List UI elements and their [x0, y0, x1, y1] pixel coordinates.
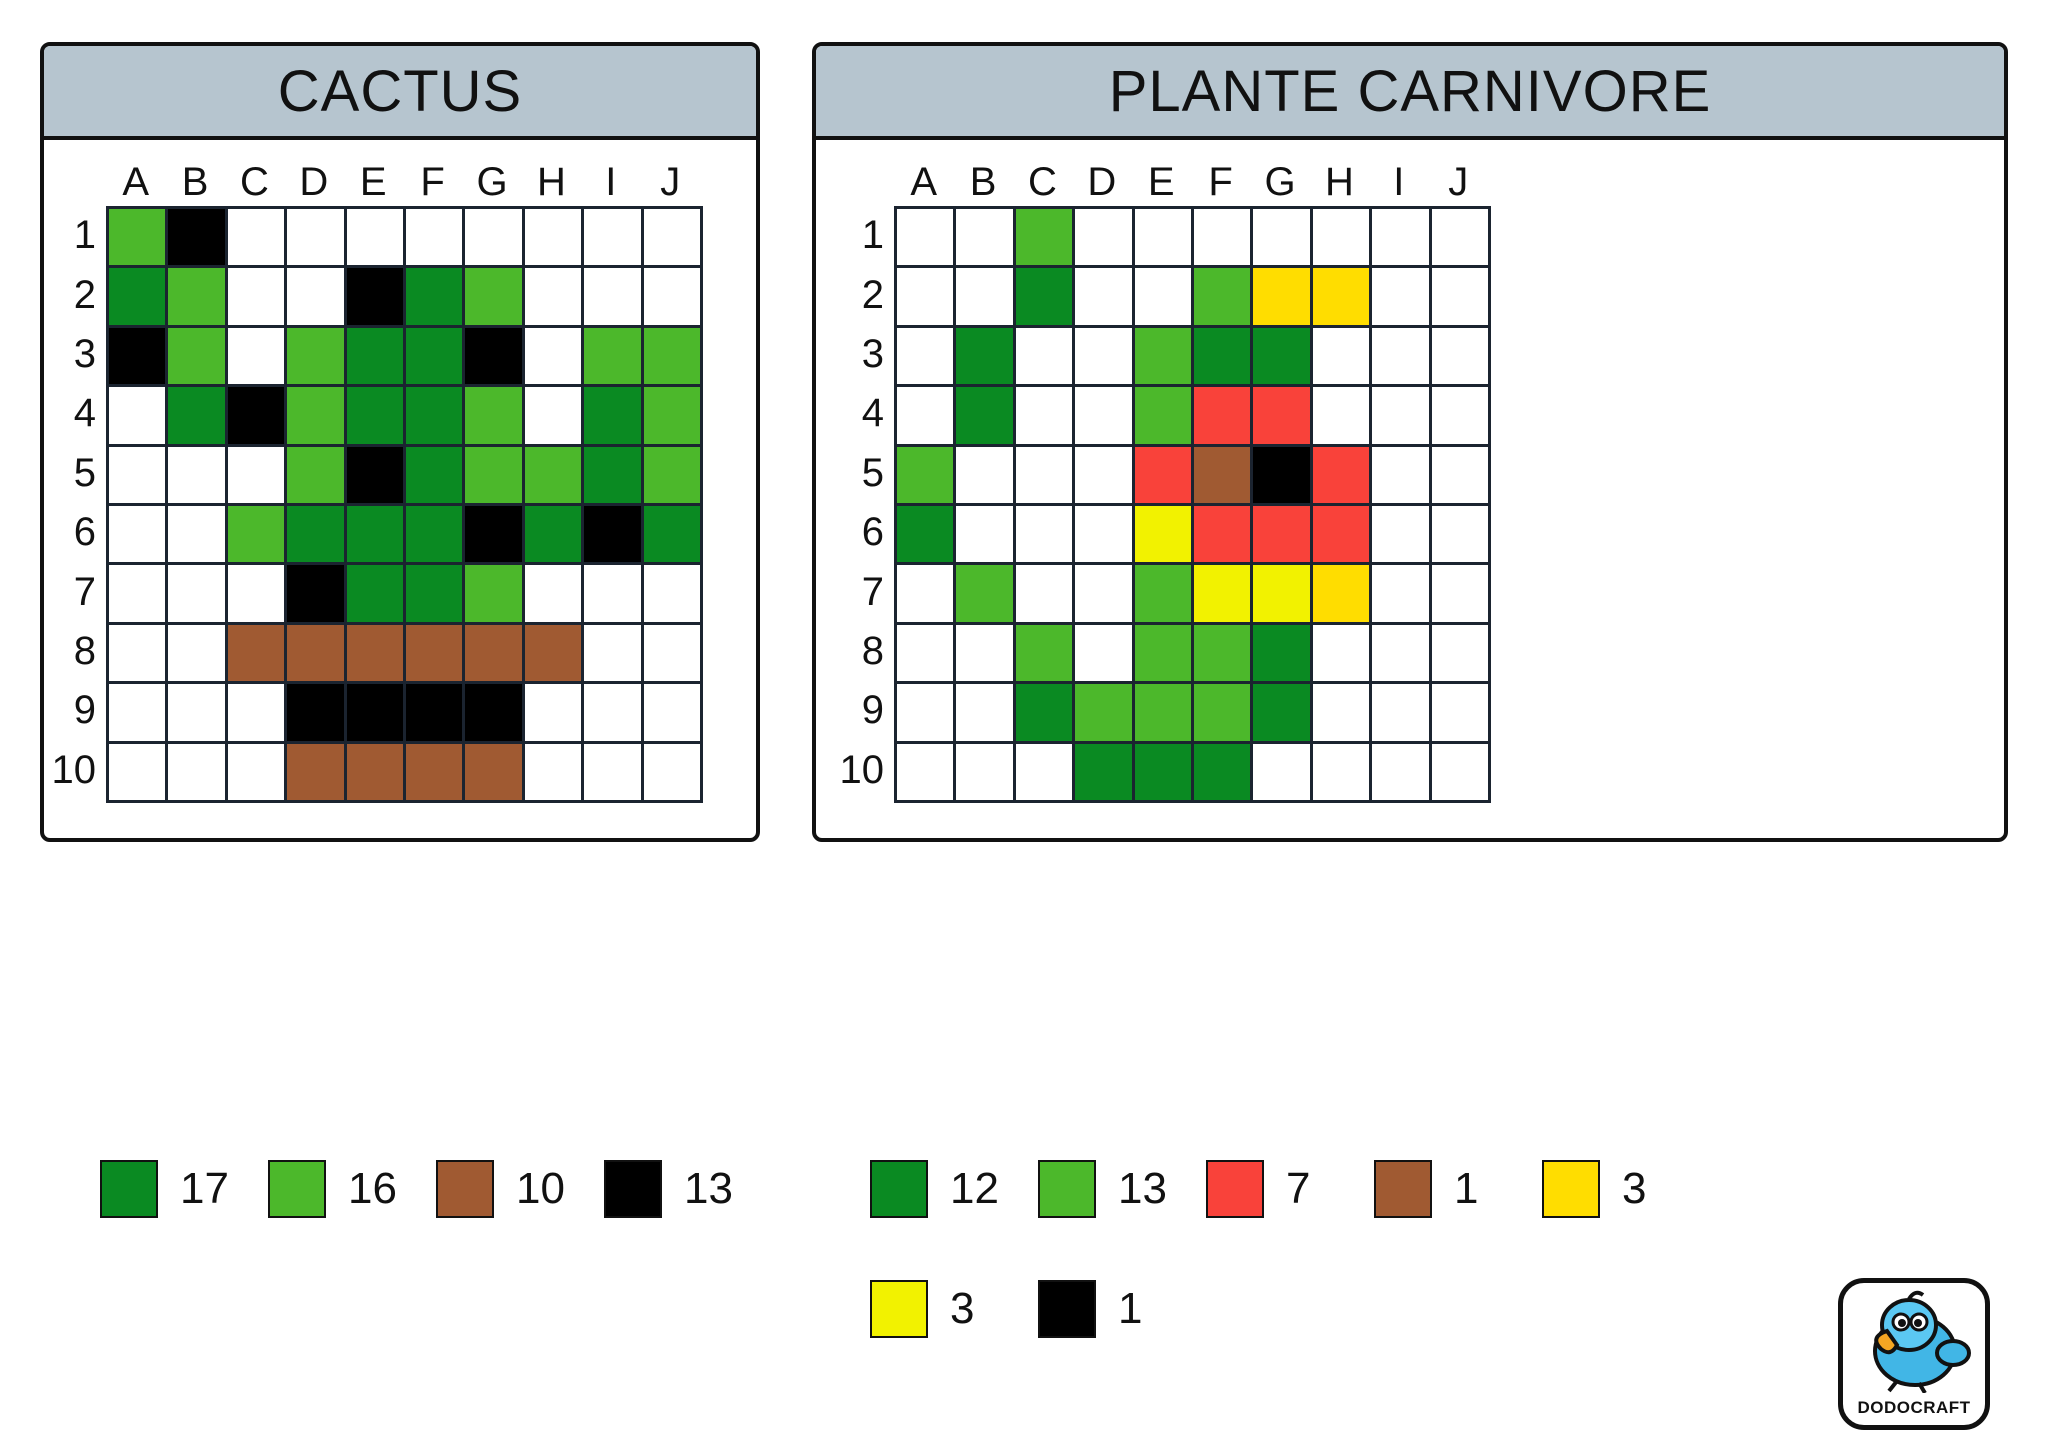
cactus-cell-G6[interactable]: [465, 506, 524, 565]
plante-cell-B2[interactable]: [956, 268, 1015, 327]
plante-cell-D6[interactable]: [1075, 506, 1134, 565]
cactus-cell-E6[interactable]: [347, 506, 406, 565]
cactus-cell-E2[interactable]: [347, 268, 406, 327]
plante-col-header-B: B: [953, 158, 1012, 206]
plante-cell-D10[interactable]: [1075, 744, 1134, 803]
cactus-cell-F2[interactable]: [406, 268, 465, 327]
plante-legend-row-1: 1213713: [870, 1160, 1710, 1218]
cactus-cell-C7[interactable]: [228, 565, 287, 624]
cactus-cell-A6[interactable]: [109, 506, 168, 565]
cactus-cell-J3[interactable]: [644, 328, 703, 387]
plante-cell-I10[interactable]: [1372, 744, 1431, 803]
cactus-cell-H7[interactable]: [525, 565, 584, 624]
cactus-cell-D3[interactable]: [287, 328, 346, 387]
plante-cell-B8[interactable]: [956, 625, 1015, 684]
plante-cell-B6[interactable]: [956, 506, 1015, 565]
plante-cell-D2[interactable]: [1075, 268, 1134, 327]
cactus-cell-B5[interactable]: [168, 447, 227, 506]
cactus-cell-G2[interactable]: [465, 268, 524, 327]
cactus-cell-J9[interactable]: [644, 684, 703, 743]
cactus-legend-item: 13: [604, 1160, 746, 1218]
plante-cell-E5[interactable]: [1135, 447, 1194, 506]
cactus-cell-I7[interactable]: [584, 565, 643, 624]
plante-cell-D1[interactable]: [1075, 209, 1134, 268]
plante-legend-count: 3: [950, 1284, 1012, 1334]
plante-cell-J1[interactable]: [1432, 209, 1491, 268]
cactus-col-header-C: C: [225, 158, 284, 206]
plante-cell-A2[interactable]: [897, 268, 956, 327]
cactus-col-header-D: D: [284, 158, 343, 206]
cactus-cell-B6[interactable]: [168, 506, 227, 565]
plante-cell-D5[interactable]: [1075, 447, 1134, 506]
plante-cell-C10[interactable]: [1016, 744, 1075, 803]
cactus-cell-A4[interactable]: [109, 387, 168, 446]
cactus-cell-I9[interactable]: [584, 684, 643, 743]
plante-cell-A9[interactable]: [897, 684, 956, 743]
cactus-legend-count: 13: [684, 1164, 746, 1214]
plante-legend-swatch-light-green: [1038, 1160, 1096, 1218]
cactus-cell-C6[interactable]: [228, 506, 287, 565]
plante-cell-F5[interactable]: [1194, 447, 1253, 506]
plante-row-header-9: 9: [854, 681, 894, 740]
plante-cell-F2[interactable]: [1194, 268, 1253, 327]
plante-cell-I6[interactable]: [1372, 506, 1431, 565]
dodo-bird-icon: [1857, 1289, 1981, 1393]
plante-cell-H6[interactable]: [1313, 506, 1372, 565]
plante-cell-C6[interactable]: [1016, 506, 1075, 565]
plante-cell-G1[interactable]: [1253, 209, 1312, 268]
panel-cactus-title: CACTUS: [44, 46, 756, 140]
cactus-cell-A8[interactable]: [109, 625, 168, 684]
plante-row-header-2: 2: [854, 265, 894, 324]
cactus-row-header-3: 3: [66, 325, 106, 384]
plante-cell-G3[interactable]: [1253, 328, 1312, 387]
plante-legend-item: 3: [870, 1280, 1012, 1338]
cactus-cell-A3[interactable]: [109, 328, 168, 387]
plante-cell-J4[interactable]: [1432, 387, 1491, 446]
plante-legend-item: 1: [1038, 1280, 1180, 1338]
plante-cell-F4[interactable]: [1194, 387, 1253, 446]
plante-legend-swatch-dark-green: [870, 1160, 928, 1218]
cactus-legend-item: 17: [100, 1160, 242, 1218]
cactus-cell-J7[interactable]: [644, 565, 703, 624]
plante-row-header-6: 6: [854, 503, 894, 562]
cactus-cell-C2[interactable]: [228, 268, 287, 327]
plante-col-header-G: G: [1250, 158, 1309, 206]
plante-cell-D8[interactable]: [1075, 625, 1134, 684]
cactus-cell-C10[interactable]: [228, 744, 287, 803]
plante-col-header-E: E: [1132, 158, 1191, 206]
cactus-cell-I10[interactable]: [584, 744, 643, 803]
plante-cell-B10[interactable]: [956, 744, 1015, 803]
plante-cell-E9[interactable]: [1135, 684, 1194, 743]
plante-col-header-A: A: [894, 158, 953, 206]
cactus-cell-F7[interactable]: [406, 565, 465, 624]
plante-grid[interactable]: [894, 206, 1491, 803]
cactus-cell-E3[interactable]: [347, 328, 406, 387]
plante-col-header-C: C: [1013, 158, 1072, 206]
cactus-col-header-E: E: [344, 158, 403, 206]
cactus-cell-I2[interactable]: [584, 268, 643, 327]
plante-cell-F10[interactable]: [1194, 744, 1253, 803]
cactus-grid-wrap: ABCDEFGHIJ 12345678910: [66, 140, 756, 803]
cactus-cell-E1[interactable]: [347, 209, 406, 268]
plante-legend-count: 7: [1286, 1164, 1348, 1214]
cactus-cell-I3[interactable]: [584, 328, 643, 387]
cactus-cell-I6[interactable]: [584, 506, 643, 565]
cactus-legend-swatch-dark-green: [100, 1160, 158, 1218]
cactus-cell-H8[interactable]: [525, 625, 584, 684]
plante-cell-F3[interactable]: [1194, 328, 1253, 387]
plante-col-header-H: H: [1310, 158, 1369, 206]
plante-legend-count: 13: [1118, 1164, 1180, 1214]
plante-cell-A5[interactable]: [897, 447, 956, 506]
plante-cell-B4[interactable]: [956, 387, 1015, 446]
plante-legend-item: 1: [1374, 1160, 1516, 1218]
plante-cell-A6[interactable]: [897, 506, 956, 565]
plante-cell-I5[interactable]: [1372, 447, 1431, 506]
plante-row-header-5: 5: [854, 444, 894, 503]
cactus-cell-D2[interactable]: [287, 268, 346, 327]
plante-col-header-F: F: [1191, 158, 1250, 206]
cactus-cell-A2[interactable]: [109, 268, 168, 327]
plante-cell-I2[interactable]: [1372, 268, 1431, 327]
cactus-cell-F10[interactable]: [406, 744, 465, 803]
plante-cell-D7[interactable]: [1075, 565, 1134, 624]
cactus-cell-A10[interactable]: [109, 744, 168, 803]
plante-cell-A8[interactable]: [897, 625, 956, 684]
plante-cell-H10[interactable]: [1313, 744, 1372, 803]
cactus-cell-H9[interactable]: [525, 684, 584, 743]
cactus-legend: 17161013: [100, 1160, 772, 1218]
plante-legend-swatch-brown: [1374, 1160, 1432, 1218]
plante-legend-count: 1: [1118, 1284, 1180, 1334]
plante-cell-H8[interactable]: [1313, 625, 1372, 684]
cactus-legend-count: 17: [180, 1164, 242, 1214]
cactus-cell-B3[interactable]: [168, 328, 227, 387]
plante-cell-A3[interactable]: [897, 328, 956, 387]
plante-cell-F8[interactable]: [1194, 625, 1253, 684]
cactus-col-header-G: G: [462, 158, 521, 206]
cactus-cell-A5[interactable]: [109, 447, 168, 506]
plante-legend-count: 12: [950, 1164, 1012, 1214]
plante-row-header-3: 3: [854, 325, 894, 384]
cactus-cell-F1[interactable]: [406, 209, 465, 268]
cactus-cell-J2[interactable]: [644, 268, 703, 327]
plante-cell-D3[interactable]: [1075, 328, 1134, 387]
cactus-cell-C4[interactable]: [228, 387, 287, 446]
plante-cell-I8[interactable]: [1372, 625, 1431, 684]
plante-cell-D9[interactable]: [1075, 684, 1134, 743]
plante-cell-J7[interactable]: [1432, 565, 1491, 624]
worksheet-page: CACTUS ABCDEFGHIJ 12345678910 PLANTE CAR…: [0, 0, 2048, 1448]
plante-col-header-J: J: [1429, 158, 1488, 206]
plante-cell-B9[interactable]: [956, 684, 1015, 743]
cactus-cell-A7[interactable]: [109, 565, 168, 624]
plante-cell-F6[interactable]: [1194, 506, 1253, 565]
plante-cell-I9[interactable]: [1372, 684, 1431, 743]
plante-cell-C1[interactable]: [1016, 209, 1075, 268]
plante-legend-swatch-bright-yellow: [870, 1280, 928, 1338]
plante-cell-B3[interactable]: [956, 328, 1015, 387]
cactus-row-header-10: 10: [66, 741, 106, 800]
plante-cell-J9[interactable]: [1432, 684, 1491, 743]
cactus-cell-I8[interactable]: [584, 625, 643, 684]
plante-legend-count: 1: [1454, 1164, 1516, 1214]
cactus-cell-E10[interactable]: [347, 744, 406, 803]
cactus-row-header-4: 4: [66, 384, 106, 443]
plante-legend-row-2: 31: [870, 1280, 1206, 1338]
plante-cell-H4[interactable]: [1313, 387, 1372, 446]
cactus-grid-body: 12345678910: [66, 206, 756, 803]
cactus-cell-G7[interactable]: [465, 565, 524, 624]
plante-cell-E3[interactable]: [1135, 328, 1194, 387]
cactus-cell-F4[interactable]: [406, 387, 465, 446]
plante-cell-H2[interactable]: [1313, 268, 1372, 327]
cactus-cell-C3[interactable]: [228, 328, 287, 387]
plante-row-headers: 12345678910: [854, 206, 894, 803]
cactus-column-headers: ABCDEFGHIJ: [106, 158, 756, 206]
plante-row-header-4: 4: [854, 384, 894, 443]
panel-cactus: CACTUS ABCDEFGHIJ 12345678910: [40, 42, 760, 842]
plante-cell-J6[interactable]: [1432, 506, 1491, 565]
cactus-legend-count: 10: [516, 1164, 578, 1214]
plante-cell-G2[interactable]: [1253, 268, 1312, 327]
cactus-cell-D6[interactable]: [287, 506, 346, 565]
plante-cell-F1[interactable]: [1194, 209, 1253, 268]
plante-row-header-8: 8: [854, 622, 894, 681]
plante-legend-item: 3: [1542, 1160, 1684, 1218]
cactus-cell-D9[interactable]: [287, 684, 346, 743]
plante-col-header-I: I: [1369, 158, 1428, 206]
cactus-row-header-2: 2: [66, 265, 106, 324]
cactus-col-header-B: B: [165, 158, 224, 206]
cactus-cell-E7[interactable]: [347, 565, 406, 624]
cactus-row-header-1: 1: [66, 206, 106, 265]
plante-cell-G7[interactable]: [1253, 565, 1312, 624]
cactus-legend-item: 10: [436, 1160, 578, 1218]
panel-plante-carnivore-title: PLANTE CARNIVORE: [816, 46, 2004, 140]
cactus-col-header-A: A: [106, 158, 165, 206]
plante-cell-J3[interactable]: [1432, 328, 1491, 387]
plante-row-header-1: 1: [854, 206, 894, 265]
plante-row-header-10: 10: [854, 741, 894, 800]
plante-cell-I4[interactable]: [1372, 387, 1431, 446]
plante-column-headers: ABCDEFGHIJ: [894, 158, 2004, 206]
plante-cell-C8[interactable]: [1016, 625, 1075, 684]
cactus-cell-I5[interactable]: [584, 447, 643, 506]
plante-cell-B5[interactable]: [956, 447, 1015, 506]
cactus-cell-G9[interactable]: [465, 684, 524, 743]
plante-cell-J5[interactable]: [1432, 447, 1491, 506]
plante-cell-A1[interactable]: [897, 209, 956, 268]
plante-cell-B1[interactable]: [956, 209, 1015, 268]
plante-cell-G4[interactable]: [1253, 387, 1312, 446]
cactus-cell-G10[interactable]: [465, 744, 524, 803]
cactus-cell-B2[interactable]: [168, 268, 227, 327]
plante-cell-H1[interactable]: [1313, 209, 1372, 268]
cactus-cell-D5[interactable]: [287, 447, 346, 506]
cactus-col-header-I: I: [581, 158, 640, 206]
panel-plante-carnivore: PLANTE CARNIVORE ABCDEFGHIJ 12345678910: [812, 42, 2008, 842]
cactus-cell-B10[interactable]: [168, 744, 227, 803]
plante-legend-swatch-black: [1038, 1280, 1096, 1338]
cactus-cell-D1[interactable]: [287, 209, 346, 268]
plante-cell-G8[interactable]: [1253, 625, 1312, 684]
cactus-legend-count: 16: [348, 1164, 410, 1214]
cactus-cell-F9[interactable]: [406, 684, 465, 743]
cactus-cell-E8[interactable]: [347, 625, 406, 684]
plante-cell-B7[interactable]: [956, 565, 1015, 624]
plante-cell-E10[interactable]: [1135, 744, 1194, 803]
cactus-cell-B1[interactable]: [168, 209, 227, 268]
cactus-cell-C5[interactable]: [228, 447, 287, 506]
cactus-grid[interactable]: [106, 206, 703, 803]
plante-legend-count: 3: [1622, 1164, 1684, 1214]
cactus-cell-A1[interactable]: [109, 209, 168, 268]
cactus-cell-D4[interactable]: [287, 387, 346, 446]
cactus-cell-C8[interactable]: [228, 625, 287, 684]
cactus-col-header-H: H: [522, 158, 581, 206]
cactus-cell-G1[interactable]: [465, 209, 524, 268]
plante-col-header-D: D: [1072, 158, 1131, 206]
cactus-cell-I4[interactable]: [584, 387, 643, 446]
cactus-row-header-6: 6: [66, 503, 106, 562]
cactus-cell-H2[interactable]: [525, 268, 584, 327]
cactus-cell-J10[interactable]: [644, 744, 703, 803]
cactus-cell-H4[interactable]: [525, 387, 584, 446]
plante-cell-I7[interactable]: [1372, 565, 1431, 624]
cactus-cell-H5[interactable]: [525, 447, 584, 506]
plante-cell-C9[interactable]: [1016, 684, 1075, 743]
cactus-cell-J8[interactable]: [644, 625, 703, 684]
plante-legend-item: 7: [1206, 1160, 1348, 1218]
cactus-cell-I1[interactable]: [584, 209, 643, 268]
cactus-row-header-9: 9: [66, 681, 106, 740]
plante-cell-I3[interactable]: [1372, 328, 1431, 387]
cactus-row-header-8: 8: [66, 622, 106, 681]
cactus-cell-G3[interactable]: [465, 328, 524, 387]
plante-legend-swatch-yellow: [1542, 1160, 1600, 1218]
cactus-legend-swatch-brown: [436, 1160, 494, 1218]
cactus-cell-G5[interactable]: [465, 447, 524, 506]
plante-legend-item: 13: [1038, 1160, 1180, 1218]
cactus-cell-B9[interactable]: [168, 684, 227, 743]
plante-cell-C4[interactable]: [1016, 387, 1075, 446]
plante-cell-F9[interactable]: [1194, 684, 1253, 743]
cactus-cell-J5[interactable]: [644, 447, 703, 506]
cactus-cell-H10[interactable]: [525, 744, 584, 803]
plante-cell-E1[interactable]: [1135, 209, 1194, 268]
plante-row-header-7: 7: [854, 562, 894, 621]
cactus-cell-G8[interactable]: [465, 625, 524, 684]
cactus-cell-E9[interactable]: [347, 684, 406, 743]
dodocraft-logo: DODOCRAFT: [1838, 1278, 1990, 1430]
cactus-cell-H1[interactable]: [525, 209, 584, 268]
plante-cell-A7[interactable]: [897, 565, 956, 624]
cactus-cell-C9[interactable]: [228, 684, 287, 743]
cactus-cell-A9[interactable]: [109, 684, 168, 743]
cactus-legend-swatch-black: [604, 1160, 662, 1218]
plante-cell-F7[interactable]: [1194, 565, 1253, 624]
plante-cell-A10[interactable]: [897, 744, 956, 803]
plante-cell-E2[interactable]: [1135, 268, 1194, 327]
plante-cell-C7[interactable]: [1016, 565, 1075, 624]
cactus-row-headers: 12345678910: [66, 206, 106, 803]
plante-cell-E4[interactable]: [1135, 387, 1194, 446]
cactus-cell-J4[interactable]: [644, 387, 703, 446]
cactus-cell-F8[interactable]: [406, 625, 465, 684]
plante-legend-swatch-red: [1206, 1160, 1264, 1218]
plante-cell-H7[interactable]: [1313, 565, 1372, 624]
cactus-legend-item: 16: [268, 1160, 410, 1218]
plante-cell-G6[interactable]: [1253, 506, 1312, 565]
cactus-cell-H6[interactable]: [525, 506, 584, 565]
plante-cell-E6[interactable]: [1135, 506, 1194, 565]
plante-cell-C5[interactable]: [1016, 447, 1075, 506]
cactus-cell-E4[interactable]: [347, 387, 406, 446]
logo-brand-text: DODOCRAFT: [1843, 1398, 1985, 1418]
plante-cell-J10[interactable]: [1432, 744, 1491, 803]
cactus-row-header-7: 7: [66, 562, 106, 621]
cactus-cell-J6[interactable]: [644, 506, 703, 565]
cactus-cell-E5[interactable]: [347, 447, 406, 506]
plante-cell-I1[interactable]: [1372, 209, 1431, 268]
plante-cell-J8[interactable]: [1432, 625, 1491, 684]
cactus-cell-B4[interactable]: [168, 387, 227, 446]
plante-cell-A4[interactable]: [897, 387, 956, 446]
cactus-cell-D8[interactable]: [287, 625, 346, 684]
cactus-cell-B8[interactable]: [168, 625, 227, 684]
plante-cell-H3[interactable]: [1313, 328, 1372, 387]
cactus-cell-B7[interactable]: [168, 565, 227, 624]
plante-cell-C2[interactable]: [1016, 268, 1075, 327]
cactus-cell-F6[interactable]: [406, 506, 465, 565]
cactus-legend-swatch-light-green: [268, 1160, 326, 1218]
cactus-cell-J1[interactable]: [644, 209, 703, 268]
plante-cell-G9[interactable]: [1253, 684, 1312, 743]
plante-cell-E8[interactable]: [1135, 625, 1194, 684]
plante-cell-H9[interactable]: [1313, 684, 1372, 743]
cactus-cell-F3[interactable]: [406, 328, 465, 387]
plante-grid-body: 12345678910: [854, 206, 2004, 803]
cactus-cell-G4[interactable]: [465, 387, 524, 446]
plante-grid-wrap: ABCDEFGHIJ 12345678910: [854, 140, 2004, 803]
cactus-cell-D7[interactable]: [287, 565, 346, 624]
plante-cell-C3[interactable]: [1016, 328, 1075, 387]
cactus-row-header-5: 5: [66, 444, 106, 503]
cactus-cell-C1[interactable]: [228, 209, 287, 268]
plante-cell-H5[interactable]: [1313, 447, 1372, 506]
cactus-col-header-F: F: [403, 158, 462, 206]
plante-cell-E7[interactable]: [1135, 565, 1194, 624]
plante-cell-D4[interactable]: [1075, 387, 1134, 446]
cactus-col-header-J: J: [641, 158, 700, 206]
plante-cell-G5[interactable]: [1253, 447, 1312, 506]
cactus-cell-H3[interactable]: [525, 328, 584, 387]
plante-cell-J2[interactable]: [1432, 268, 1491, 327]
plante-legend-item: 12: [870, 1160, 1012, 1218]
cactus-cell-D10[interactable]: [287, 744, 346, 803]
plante-cell-G10[interactable]: [1253, 744, 1312, 803]
cactus-cell-F5[interactable]: [406, 447, 465, 506]
